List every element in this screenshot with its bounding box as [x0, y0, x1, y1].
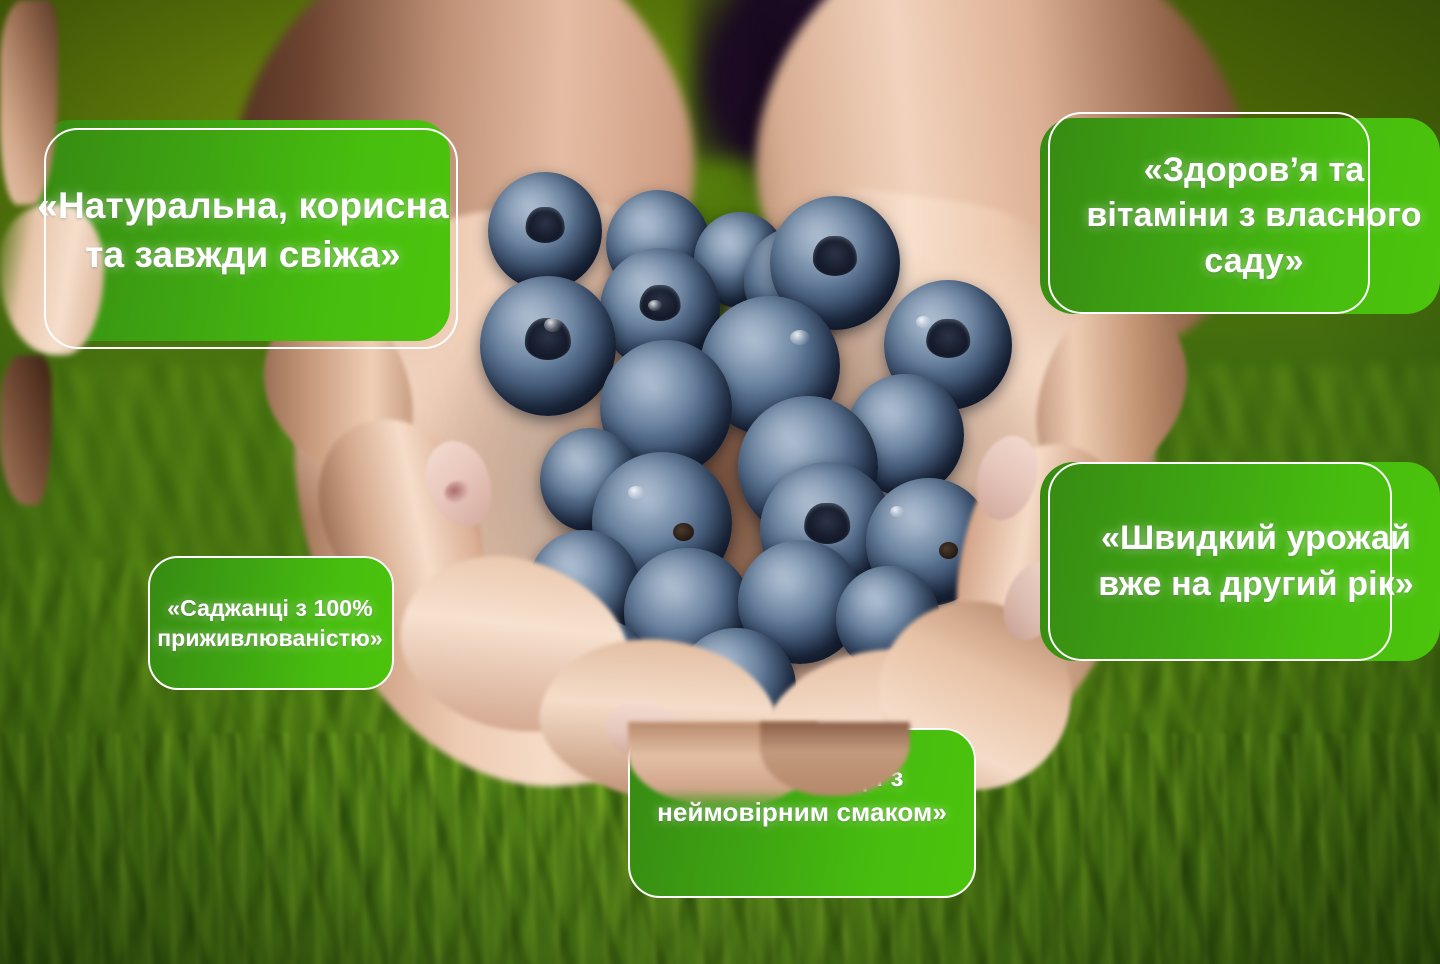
callout-health-text: «Здоров’я та вітаміни з власного саду» [1068, 148, 1440, 284]
blueberry [488, 172, 602, 290]
callout-harvest-text: «Швидкий урожай вже на другий рік» [1072, 516, 1440, 606]
callout-seedlings-text: «Саджанці з 100% приживлюваністю» [146, 593, 394, 654]
callout-natural-text: «Натуральна, корисна та завжди свіжа» [36, 182, 450, 278]
callout-health[interactable]: «Здоров’я та вітаміни з власного саду» [1040, 118, 1440, 314]
knuckle-over-health-callout [0, 355, 52, 505]
promo-banner: «Натуральна, корисна та завжди свіжа» «З… [0, 0, 1440, 964]
water-droplet [916, 316, 931, 328]
water-droplet [648, 300, 662, 311]
blueberry [480, 276, 616, 416]
water-droplet [628, 486, 644, 499]
water-droplet [890, 506, 904, 517]
callout-seedlings[interactable]: «Саджанці з 100% приживлюваністю» [148, 556, 394, 690]
callout-harvest[interactable]: «Швидкий урожай вже на другий рік» [1040, 462, 1440, 661]
water-droplet [790, 330, 810, 345]
water-droplet [544, 318, 562, 332]
